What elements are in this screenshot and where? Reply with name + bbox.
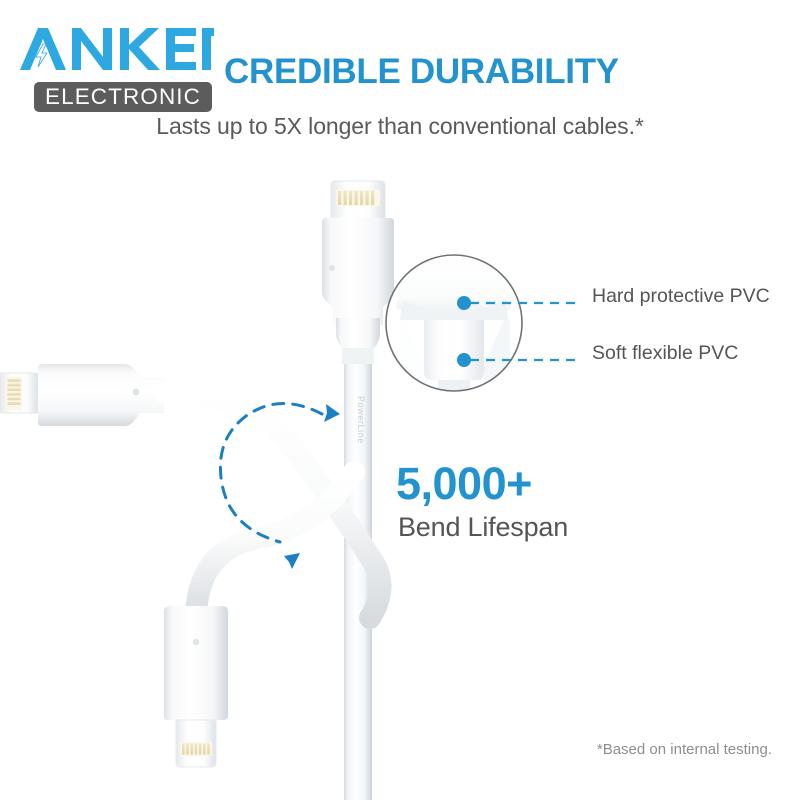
housing-dimple-icon — [329, 265, 335, 271]
bent-cable-lower — [196, 472, 354, 620]
magnifier-detail — [386, 252, 522, 394]
infographic-canvas: PowerLine — [0, 0, 800, 800]
electronic-badge: ELECTRONIC — [34, 82, 212, 112]
left-lightning-connector — [0, 364, 164, 426]
cable-branding-text: PowerLine — [356, 396, 366, 444]
callout-label-soft-pvc: Soft flexible PVC — [592, 342, 738, 365]
anker-logo: ELECTRONIC — [18, 26, 218, 100]
top-lightning-connector — [322, 181, 394, 325]
connector-pins-left — [6, 377, 22, 410]
stat-caption: Bend Lifespan — [398, 512, 568, 543]
hotspot-hard-pvc — [457, 296, 471, 310]
strain-relief — [336, 318, 380, 364]
electronic-badge-text: ELECTRONIC — [45, 86, 201, 109]
anker-wordmark — [18, 26, 218, 72]
page-subtitle: Lasts up to 5X longer than conventional … — [0, 113, 800, 140]
bottom-lightning-connector — [164, 606, 228, 767]
page-title: CREDIBLE DURABILITY — [224, 52, 619, 92]
connector-pins-bottom — [180, 742, 212, 756]
callout-label-hard-pvc: Hard protective PVC — [592, 285, 770, 308]
hotspot-soft-pvc — [457, 353, 471, 367]
housing-dimple-bottom-icon — [193, 639, 199, 645]
housing-dimple-left-icon — [133, 389, 140, 396]
connector-pins — [336, 190, 380, 206]
stat-value: 5,000+ — [396, 458, 532, 510]
footnote: *Based on internal testing. — [597, 741, 772, 758]
